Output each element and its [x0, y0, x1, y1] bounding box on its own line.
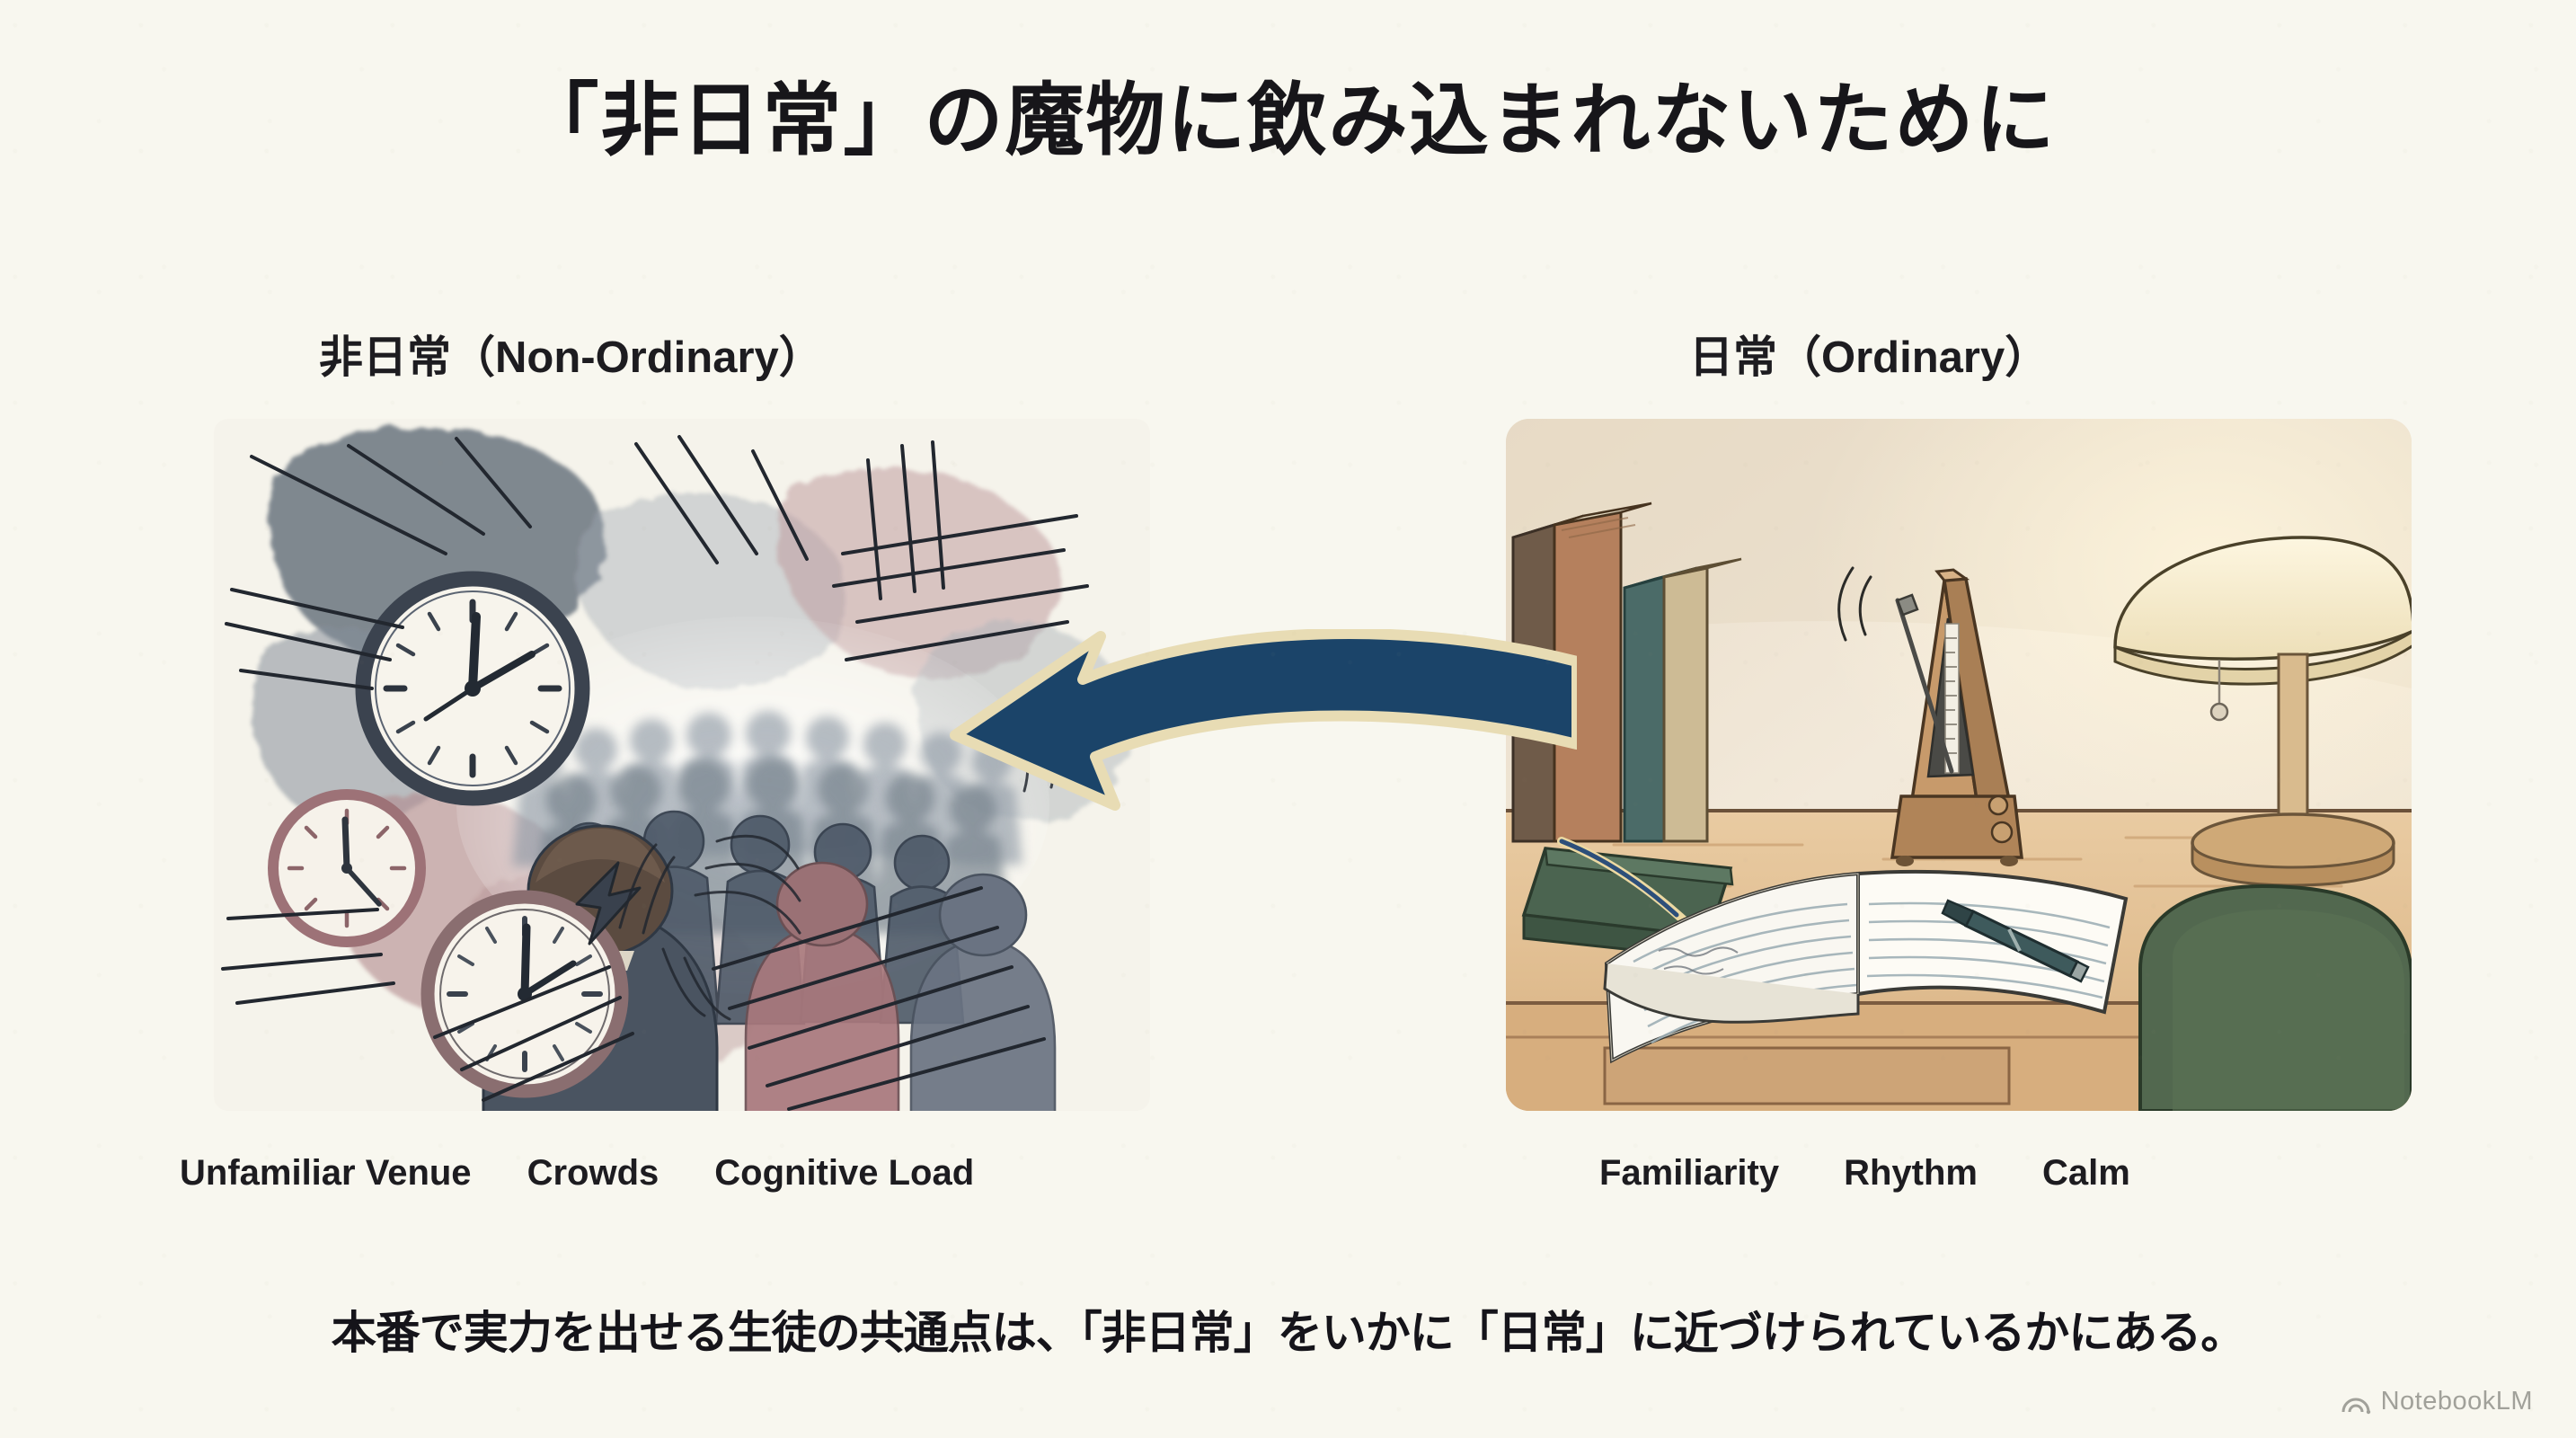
ordinary-to-nonordinary-arrow [948, 629, 1577, 926]
notebooklm-watermark: NotebookLM [2341, 1387, 2533, 1416]
clock-small-rose [273, 794, 420, 942]
caption-cognitive-load: Cognitive Load [714, 1153, 974, 1194]
caption-familiarity: Familiarity [1599, 1153, 1779, 1194]
column-heading-non-ordinary: 非日常（Non-Ordinary） [319, 322, 823, 386]
notebooklm-label: NotebookLM [2381, 1387, 2533, 1416]
calm-study-desk-illustration [1506, 419, 2412, 1111]
non-ordinary-caption-row: Unfamiliar Venue Crowds Cognitive Load [180, 1153, 974, 1194]
column-heading-ordinary: 日常（Ordinary） [1689, 322, 2049, 386]
clock-lowleft [428, 897, 622, 1091]
ordinary-illustration-panel [1506, 419, 2412, 1111]
caption-unfamiliar-venue: Unfamiliar Venue [180, 1153, 472, 1194]
bottom-statement: 本番で実力を出せる生徒の共通点は、「非日常」をいかに「日常」に近づけられているか… [0, 1297, 2576, 1362]
slide-canvas: 「非日常」の魔物に飲み込まれないために 非日常（Non-Ordinary） 日常… [0, 0, 2576, 1438]
ordinary-caption-row: Familiarity Rhythm Calm [1599, 1153, 2130, 1194]
caption-rhythm: Rhythm [1844, 1153, 1978, 1194]
clock-large [363, 579, 582, 798]
chair [2140, 886, 2412, 1111]
caption-calm: Calm [2042, 1153, 2130, 1194]
caption-crowds: Crowds [527, 1153, 659, 1194]
notebooklm-arc-icon [2341, 1389, 2371, 1415]
page-title: 「非日常」の魔物に飲み込まれないために [0, 77, 2576, 164]
